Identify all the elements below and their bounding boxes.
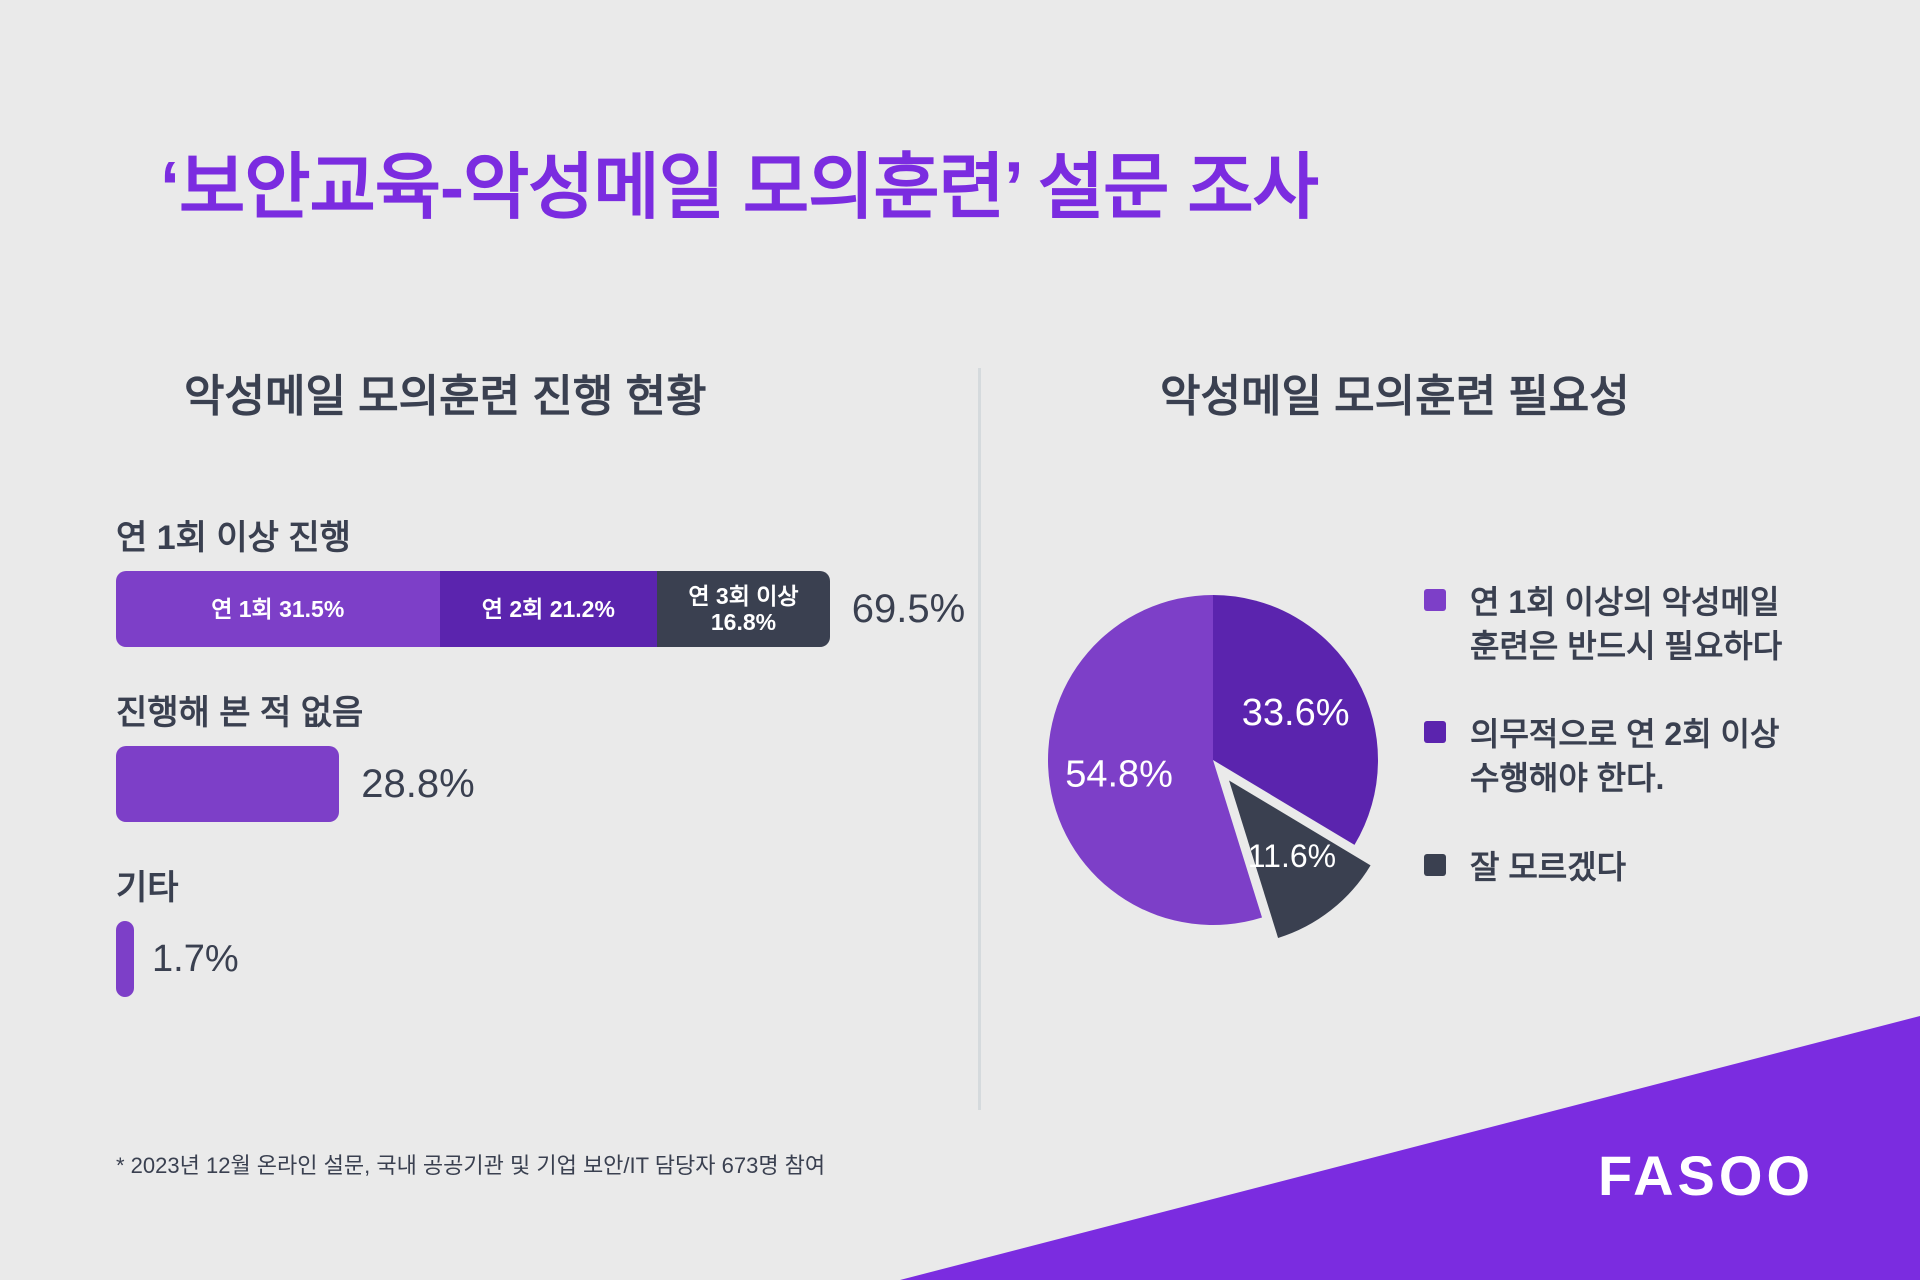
pie-legend: 연 1회 이상의 악성메일훈련은 반드시 필요하다 의무적으로 연 2회 이상수… <box>1424 580 1844 933</box>
bar-total-3: 1.7% <box>152 938 239 981</box>
bar-row-3: 1.7% <box>116 921 976 997</box>
bar-group-1: 연 1회 이상 진행 연 1회 31.5% 연 2회 21.2% 연 3회 이상… <box>116 510 976 647</box>
bar-total-2: 28.8% <box>361 762 474 807</box>
stacked-bar: 연 1회 31.5% 연 2회 21.2% 연 3회 이상 16.8% <box>116 571 830 647</box>
pie-chart-svg: 54.8% 33.6% 11.6% <box>1018 560 1418 960</box>
right-section-heading: 악성메일 모의훈련 필요성 <box>1160 360 1630 424</box>
pie-label-33: 33.6% <box>1242 692 1350 734</box>
bar-fill-3 <box>116 921 134 997</box>
legend-item-2: 의무적으로 연 2회 이상수행해야 한다. <box>1424 712 1844 800</box>
legend-label-1: 연 1회 이상의 악성메일훈련은 반드시 필요하다 <box>1470 580 1782 668</box>
page-title: ‘보안교육-악성메일 모의훈련’ 설문 조사 <box>160 128 1318 233</box>
pie-label-54: 54.8% <box>1065 753 1173 795</box>
bar-total-1: 69.5% <box>852 587 965 632</box>
legend-swatch-icon-2 <box>1424 721 1446 743</box>
bar-label-1: 연 1회 이상 진행 <box>116 510 976 559</box>
legend-swatch-icon-1 <box>1424 589 1446 611</box>
pie-label-11: 11.6% <box>1248 838 1336 874</box>
bar-segment-2: 연 2회 21.2% <box>440 571 658 647</box>
bar-segment-1: 연 1회 31.5% <box>116 571 440 647</box>
bar-chart: 연 1회 이상 진행 연 1회 31.5% 연 2회 21.2% 연 3회 이상… <box>116 510 976 1035</box>
pie-chart: 54.8% 33.6% 11.6% <box>1018 560 1418 960</box>
legend-item-3: 잘 모르겠다 <box>1424 845 1844 889</box>
bar-label-3: 기타 <box>116 860 976 909</box>
legend-label-2: 의무적으로 연 2회 이상수행해야 한다. <box>1470 712 1779 800</box>
bar-segment-3: 연 3회 이상 16.8% <box>657 571 830 647</box>
bar-group-2: 진행해 본 적 없음 28.8% <box>116 685 976 822</box>
infographic-page: ‘보안교육-악성메일 모의훈련’ 설문 조사 악성메일 모의훈련 진행 현황 악… <box>0 0 1920 1280</box>
legend-swatch-icon-3 <box>1424 854 1446 876</box>
legend-label-3: 잘 모르겠다 <box>1470 845 1626 889</box>
footnote-text: * 2023년 12월 온라인 설문, 국내 공공기관 및 기업 보안/IT 담… <box>116 1148 825 1180</box>
section-divider <box>978 368 981 1110</box>
bar-group-3: 기타 1.7% <box>116 860 976 997</box>
fasoo-logo: FASOO <box>1598 1143 1814 1208</box>
legend-item-1: 연 1회 이상의 악성메일훈련은 반드시 필요하다 <box>1424 580 1844 668</box>
bar-row-2: 28.8% <box>116 746 976 822</box>
bar-row-1: 연 1회 31.5% 연 2회 21.2% 연 3회 이상 16.8% 69.5… <box>116 571 976 647</box>
bar-label-2: 진행해 본 적 없음 <box>116 685 976 734</box>
left-section-heading: 악성메일 모의훈련 진행 현황 <box>184 360 706 424</box>
bar-fill-2 <box>116 746 339 822</box>
